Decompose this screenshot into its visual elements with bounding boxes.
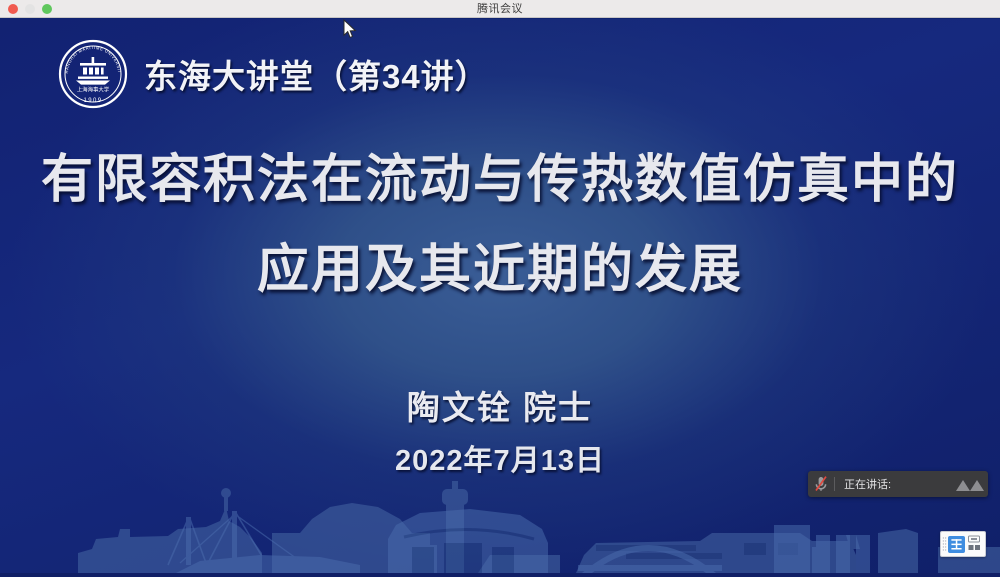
- lecture-series-banner: 东海大讲堂（第34讲）: [144, 50, 489, 98]
- seal-year: 1909: [84, 98, 103, 104]
- tencent-meeting-window: 腾讯会议: [0, 0, 1000, 577]
- active-speaker-bar[interactable]: 正在讲话:: [808, 471, 988, 497]
- input-method-bar[interactable]: [940, 531, 986, 557]
- speaking-status-label: 正在讲话:: [835, 476, 952, 492]
- university-seal-icon: SHANGHAI MARITIME UNIVERSITY 上海海事大学: [58, 39, 128, 109]
- slide-title-line-1: 有限容积法在流动与传热数值仿真中的: [0, 135, 1000, 225]
- ime-toolbox-icon[interactable]: [966, 534, 983, 554]
- tencent-meeting-brand-icon: [952, 471, 988, 497]
- seal-cn-name: 上海海事大学: [77, 85, 110, 93]
- ime-chinese-language-icon[interactable]: [948, 536, 965, 553]
- shared-screen-slide: SHANGHAI MARITIME UNIVERSITY 上海海事大学: [0, 19, 1000, 577]
- window-titlebar: 腾讯会议: [0, 0, 1000, 18]
- window-title: 腾讯会议: [0, 0, 1000, 18]
- slide-speaker-block: 陶文铨 院士 2022年7月13日: [0, 381, 1000, 479]
- slide-header: SHANGHAI MARITIME UNIVERSITY 上海海事大学: [58, 39, 489, 109]
- mic-muted-icon[interactable]: [808, 471, 834, 497]
- slide-title-line-2: 应用及其近期的发展: [0, 225, 1000, 315]
- ime-drag-handle[interactable]: [942, 536, 947, 552]
- speaker-name: 陶文铨 院士: [0, 381, 1000, 429]
- slide-title-block: 有限容积法在流动与传热数值仿真中的 应用及其近期的发展: [0, 135, 1000, 315]
